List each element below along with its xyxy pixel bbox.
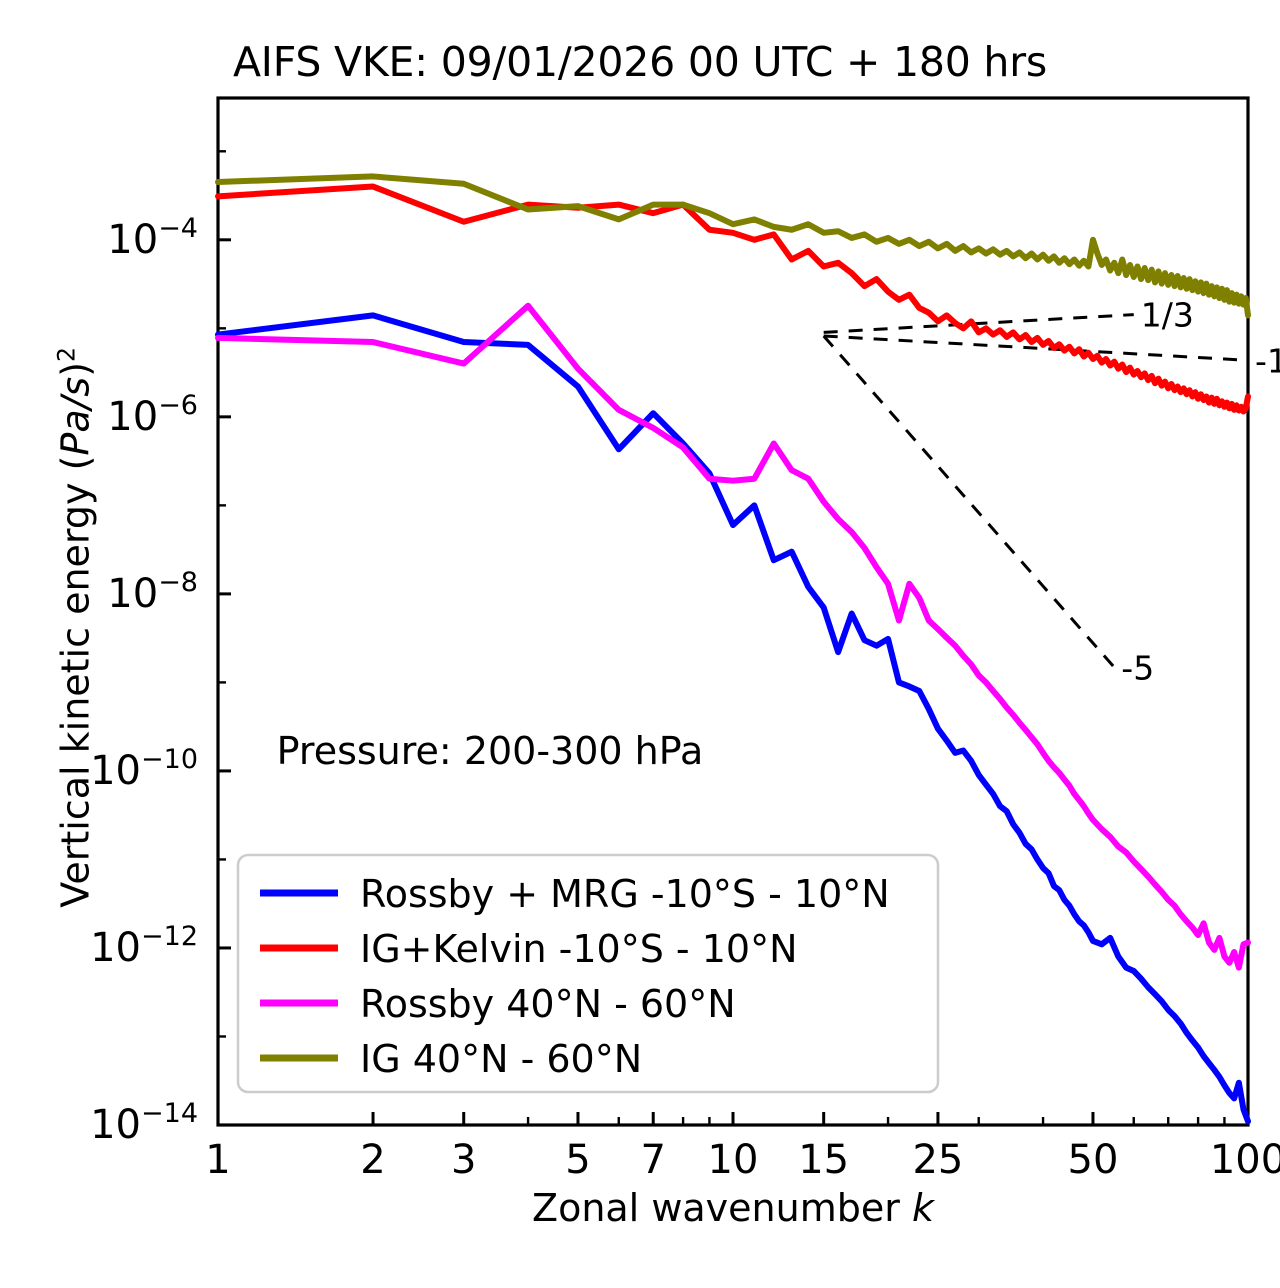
x-tick-label: 25 [912,1137,963,1183]
legend[interactable]: Rossby + MRG -10°S - 10°NIG+Kelvin -10°S… [238,855,938,1092]
reference-lines: 1/3-1/3-5 [824,296,1280,688]
x-tick-label: 10 [708,1137,759,1183]
reference-line-label: 1/3 [1141,296,1194,335]
plot-annotations: Pressure: 200-300 hPa [277,729,704,773]
y-tick-label: 10−12 [90,921,198,971]
figure-container: AIFS VKE: 09/01/2026 00 UTC + 180 hrs Ve… [0,0,1280,1288]
reference-line [824,336,1115,667]
y-tick-label: 10−8 [107,567,198,617]
legend-item-label[interactable]: IG+Kelvin -10°S - 10°N [360,927,798,971]
legend-item-label[interactable]: IG 40°N - 60°N [360,1037,642,1081]
x-tick-label: 7 [640,1137,665,1183]
x-tick-label: 1 [205,1137,230,1183]
x-tick-label: 100 [1210,1137,1280,1183]
y-tick-label: 10−4 [107,213,198,263]
pressure-annotation: Pressure: 200-300 hPa [277,729,704,773]
x-axis-ticks: 1235710152550100 [205,1112,1280,1183]
legend-item-label[interactable]: Rossby 40°N - 60°N [360,982,736,1026]
plot-area: 10−410−610−810−1010−1210−14 123571015255… [0,0,1280,1288]
legend-item-label[interactable]: Rossby + MRG -10°S - 10°N [360,872,890,916]
y-tick-label: 10−14 [90,1098,198,1148]
reference-line-label: -5 [1121,648,1154,687]
x-tick-label: 3 [451,1137,476,1183]
x-tick-label: 2 [360,1137,385,1183]
series-line [218,187,1248,412]
series-line [218,176,1248,315]
x-tick-label: 50 [1068,1137,1119,1183]
y-tick-label: 10−6 [107,390,198,440]
x-tick-label: 5 [565,1137,590,1183]
y-axis-ticks: 10−410−610−810−1010−1210−14 [90,151,231,1148]
y-tick-label: 10−10 [90,744,198,794]
x-tick-label: 15 [798,1137,849,1183]
reference-line-label: -1/3 [1255,341,1280,380]
